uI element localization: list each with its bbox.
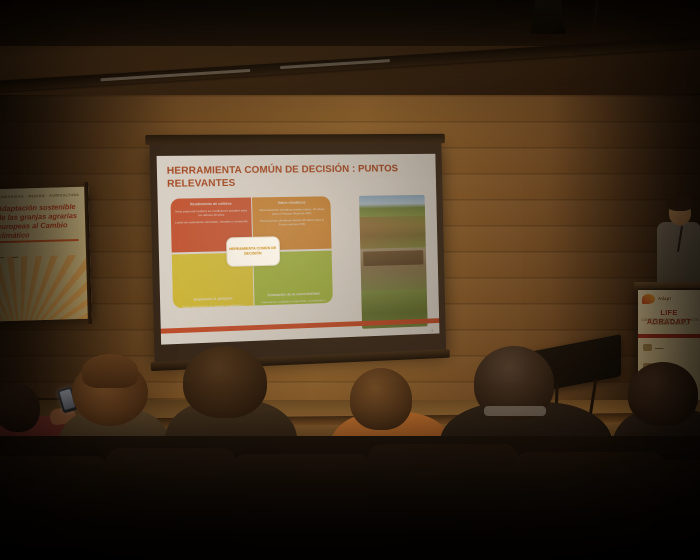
quadrant-bottom-left-heading: Evaluación & ejemplos: [177, 296, 250, 303]
quadrant-top-right-line-1: Observaciones climáticas diarias (diario…: [256, 207, 327, 217]
ceiling-spotlight-icon: [530, 0, 566, 34]
slide-page-number: 8: [431, 328, 433, 332]
quadrant-top-left-line-1: Texto potencial (cultivo) en condiciones…: [175, 208, 248, 218]
quadrant-top-left-heading: Rendimiento de cultivos: [174, 201, 247, 207]
seat-2: [106, 448, 236, 560]
seat-1: [0, 456, 108, 560]
projection-screen: HERRAMIENTA COMÚN DE DECISIÓN : PUNTOS R…: [149, 141, 446, 365]
banner-shadow: [0, 187, 92, 322]
audience-center-head: [183, 346, 267, 418]
decision-tool-quadrant-diagram: Rendimiento de cultivos Texto potencial …: [170, 196, 332, 308]
slide-title: HERRAMIENTA COMÚN DE DECISIÓN : PUNTOS R…: [167, 163, 404, 192]
quadrant-bottom-right-line-1: Información cualitativa (exposición, sen…: [258, 298, 329, 306]
quadrant-top-left-body: Texto potencial (cultivo) en condiciones…: [175, 208, 248, 224]
quadrant-top-left-line-2: Límite de explotación (simulado, climáti…: [175, 219, 248, 225]
rollup-banner-left: COMUNIDAD · REGIÓN · AGRICULTURA Adaptac…: [0, 187, 92, 322]
presentation-slide: HERRAMIENTA COMÚN DE DECISIÓN : PUNTOS R…: [157, 154, 440, 345]
audience: [0, 350, 700, 560]
speaker-hair: [667, 196, 693, 211]
quadrant-bottom-left-body: Datos agronómicos de granjas (condicione…: [177, 302, 250, 308]
audience-far-right-head: [628, 362, 698, 426]
quadrant-bottom-right-body: Información cualitativa (exposición, sen…: [258, 298, 329, 306]
seat-6: [644, 460, 700, 560]
seat-3: [232, 454, 372, 560]
quadrant-top-right-body: Observaciones climáticas diarias (diario…: [256, 207, 327, 227]
screen-canvas: HERRAMIENTA COMÚN DE DECISIÓN : PUNTOS R…: [157, 154, 440, 345]
audience-right-suit-collar: [484, 406, 546, 416]
quadrant-bottom-right-heading: Evaluación de la vulnerabilidad: [258, 291, 329, 298]
quadrant-center-label: HERRAMIENTA COMÚN DE DECISIÓN: [226, 236, 280, 267]
seat-5: [514, 452, 664, 560]
quadrant-top-right-heading: Datos climáticos: [256, 200, 327, 206]
quadrant-bottom-left-line-1: Datos agronómicos de granjas (condicione…: [177, 302, 250, 308]
photo-fields: [359, 195, 426, 249]
photo-livestock: [360, 247, 426, 291]
quadrant-top-right-line-2: Proyecciones climáticas diarias (30 años…: [257, 218, 328, 228]
seat-4: [368, 444, 518, 560]
screen-top-bar: [145, 134, 445, 145]
audience-orange-scarf-head: [350, 368, 412, 430]
audience-curly-head-top: [82, 354, 138, 388]
auditorium-photo: COMUNIDAD · REGIÓN · AGRICULTURA Adaptac…: [0, 0, 700, 560]
slide-photo-strip: [359, 195, 428, 329]
